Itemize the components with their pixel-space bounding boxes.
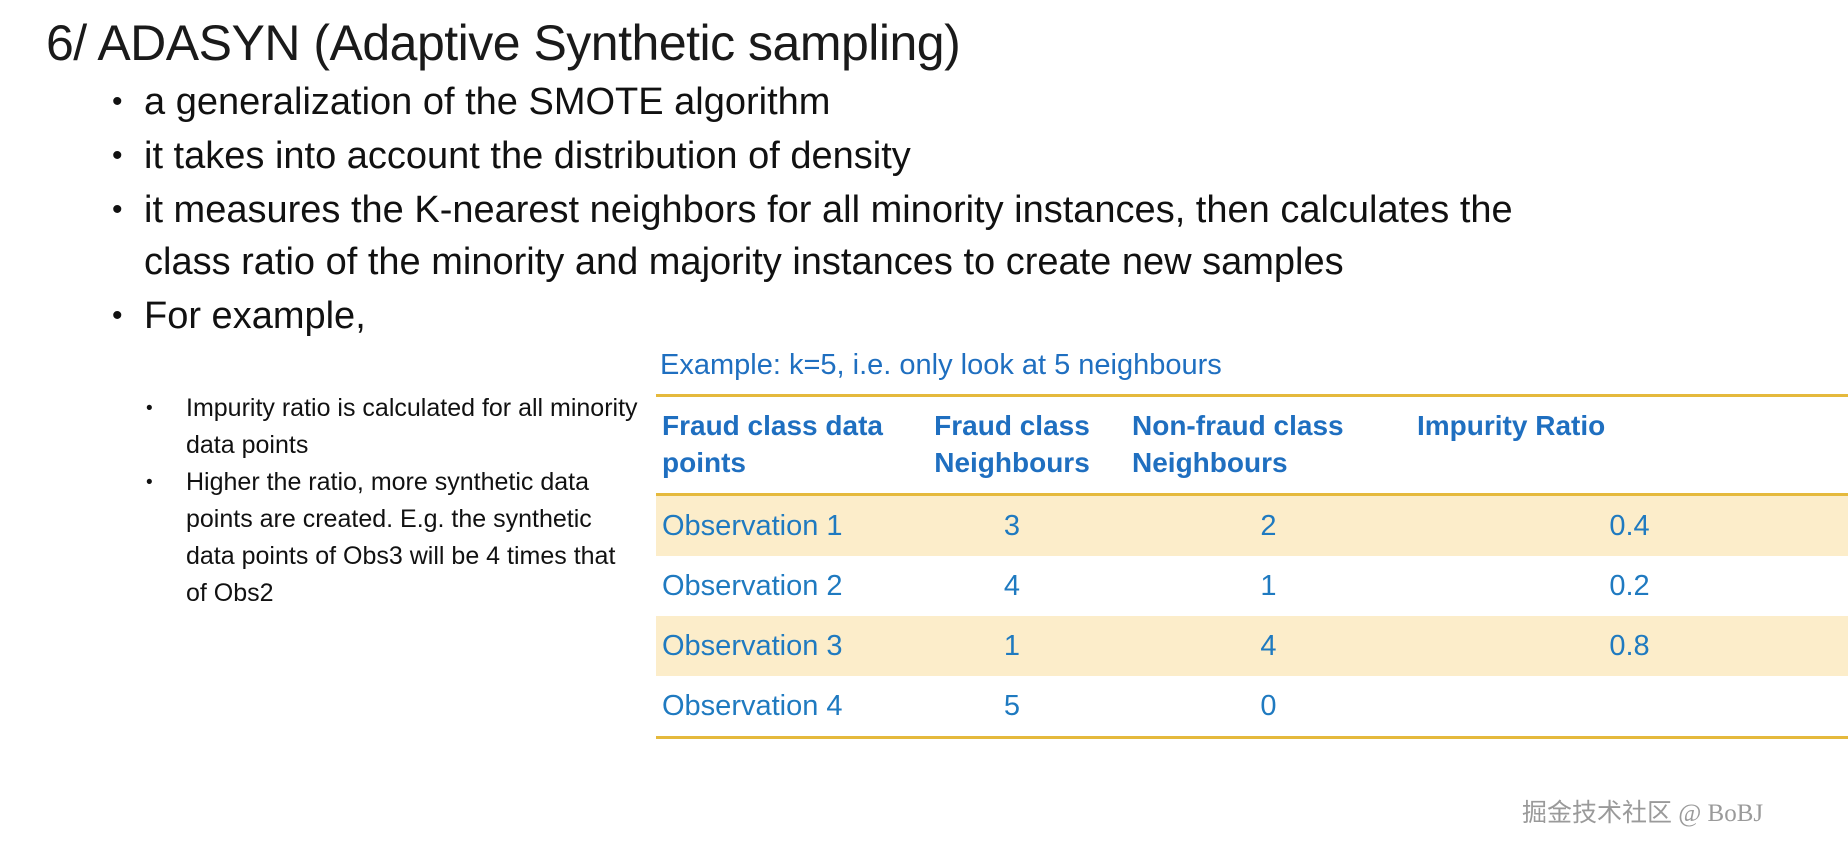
page-title: 6/ ADASYN (Adaptive Synthetic sampling): [46, 12, 960, 74]
table-caption: Example: k=5, i.e. only look at 5 neighb…: [656, 344, 1848, 386]
column-header-non-fraud-class-neighbours: Non-fraud class Neighbours: [1126, 396, 1411, 495]
list-item-label: it takes into account the distribution o…: [144, 130, 1524, 182]
list-item-label: For example,: [144, 290, 1524, 342]
cell-impurity-ratio: 0.8: [1411, 616, 1848, 676]
table-row: Observation 3 1 4 0.8: [656, 616, 1848, 676]
cell-fraud-neighbours: 3: [898, 495, 1126, 557]
bullet-dot-icon: •: [112, 130, 123, 182]
cell-impurity-ratio: 0.2: [1411, 556, 1848, 616]
column-header-impurity-ratio: Impurity Ratio: [1411, 396, 1848, 495]
table-row: Observation 4 5 0: [656, 676, 1848, 738]
table-header-row: Fraud class data points Fraud class Neig…: [656, 396, 1848, 495]
cell-observation-label: Observation 2: [656, 556, 898, 616]
sub-bullet-list: • Impurity ratio is calculated for all m…: [140, 390, 640, 612]
table-body: Observation 1 3 2 0.4 Observation 2 4 1 …: [656, 495, 1848, 738]
table-row: Observation 2 4 1 0.2: [656, 556, 1848, 616]
cell-fraud-neighbours: 4: [898, 556, 1126, 616]
example-table-panel: Example: k=5, i.e. only look at 5 neighb…: [656, 344, 1848, 739]
cell-nonfraud-neighbours: 1: [1126, 556, 1411, 616]
cell-nonfraud-neighbours: 0: [1126, 676, 1411, 738]
list-item: • Higher the ratio, more synthetic data …: [140, 464, 640, 612]
cell-nonfraud-neighbours: 4: [1126, 616, 1411, 676]
watermark: 掘金技术社区 @ BoBJ: [1522, 798, 1763, 830]
cell-fraud-neighbours: 1: [898, 616, 1126, 676]
list-item-label: it measures the K-nearest neighbors for …: [144, 184, 1524, 288]
cell-fraud-neighbours: 5: [898, 676, 1126, 738]
cell-impurity-ratio: 0.4: [1411, 495, 1848, 557]
table-header: Fraud class data points Fraud class Neig…: [656, 396, 1848, 495]
list-item: • For example,: [104, 290, 1524, 342]
table-row: Observation 1 3 2 0.4: [656, 495, 1848, 557]
list-item: • it measures the K-nearest neighbors fo…: [104, 184, 1524, 288]
list-item-label: Higher the ratio, more synthetic data po…: [186, 468, 615, 607]
list-item: • Impurity ratio is calculated for all m…: [140, 390, 640, 464]
cell-impurity-ratio: [1411, 676, 1848, 738]
list-item: • it takes into account the distribution…: [104, 130, 1524, 182]
cell-nonfraud-neighbours: 2: [1126, 495, 1411, 557]
observations-table: Fraud class data points Fraud class Neig…: [656, 394, 1848, 739]
list-item-label: a generalization of the SMOTE algorithm: [144, 76, 1524, 128]
list-item-label: Impurity ratio is calculated for all min…: [186, 394, 638, 459]
column-header-fraud-class-data-points: Fraud class data points: [656, 396, 898, 495]
cell-observation-label: Observation 3: [656, 616, 898, 676]
bullet-dot-icon: •: [146, 464, 153, 501]
list-item: • a generalization of the SMOTE algorith…: [104, 76, 1524, 128]
cell-observation-label: Observation 4: [656, 676, 898, 738]
bullet-dot-icon: •: [112, 184, 123, 236]
main-bullet-list: • a generalization of the SMOTE algorith…: [104, 76, 1524, 344]
bullet-dot-icon: •: [146, 390, 153, 427]
column-header-fraud-class-neighbours: Fraud class Neighbours: [898, 396, 1126, 495]
bullet-dot-icon: •: [112, 290, 123, 342]
bullet-dot-icon: •: [112, 76, 123, 128]
cell-observation-label: Observation 1: [656, 495, 898, 557]
